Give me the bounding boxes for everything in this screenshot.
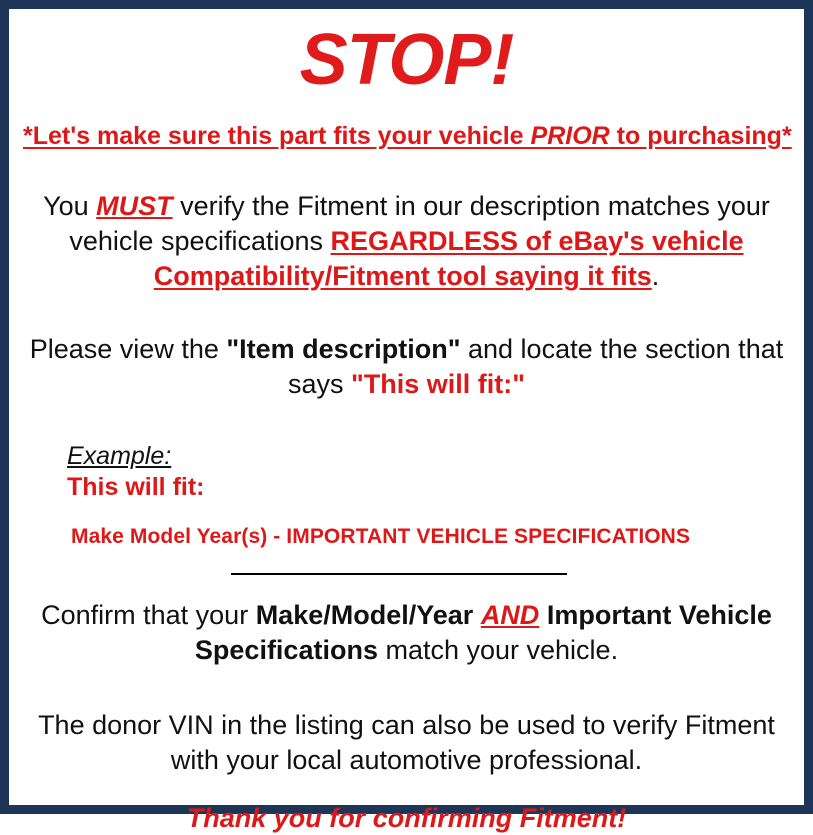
para3-seg-1: Confirm that your	[41, 600, 256, 630]
horizontal-divider	[231, 573, 567, 575]
paragraph-verify-fitment: You MUST verify the Fitment in our descr…	[23, 189, 790, 294]
para2-seg-1: Please view the	[30, 334, 227, 364]
example-label: Example:	[67, 442, 790, 471]
para2-emphasis-this-will-fit: "This will fit:"	[351, 369, 525, 399]
subtitle-banner: *Let's make sure this part fits your veh…	[23, 121, 790, 151]
paragraph-item-description: Please view the "Item description" and l…	[23, 332, 790, 402]
para3-seg-5	[539, 600, 547, 630]
paragraph-confirm-match: Confirm that your Make/Model/Year AND Im…	[23, 598, 790, 668]
fitment-notice-card: STOP! *Let's make sure this part fits yo…	[0, 0, 813, 814]
para2-emphasis-item-description: "Item description"	[226, 334, 460, 364]
subtitle-text-after: to purchasing*	[610, 122, 792, 150]
subtitle-emphasis-prior: PRIOR	[531, 122, 610, 150]
subtitle-text-before: *Let's make sure this part fits your veh…	[23, 122, 531, 150]
para1-emphasis-must: MUST	[96, 191, 173, 221]
divider-wrapper	[23, 573, 790, 577]
para3-seg-3	[473, 600, 481, 630]
para1-seg-5: .	[652, 261, 660, 291]
para3-emphasis-make-model-year: Make/Model/Year	[256, 600, 474, 630]
para3-emphasis-and: AND	[481, 600, 540, 630]
paragraph-donor-vin: The donor VIN in the listing can also be…	[23, 708, 790, 778]
para3-seg-7: match your vehicle.	[378, 635, 618, 665]
example-fit-heading: This will fit:	[67, 472, 790, 503]
example-spec-line: Make Model Year(s) - IMPORTANT VEHICLE S…	[67, 525, 790, 549]
page-title: STOP!	[23, 9, 790, 99]
para1-seg-1: You	[43, 191, 96, 221]
example-block: Example: This will fit: Make Model Year(…	[23, 442, 790, 549]
thank-you-message: Thank you for confirming Fitment!	[23, 802, 790, 834]
